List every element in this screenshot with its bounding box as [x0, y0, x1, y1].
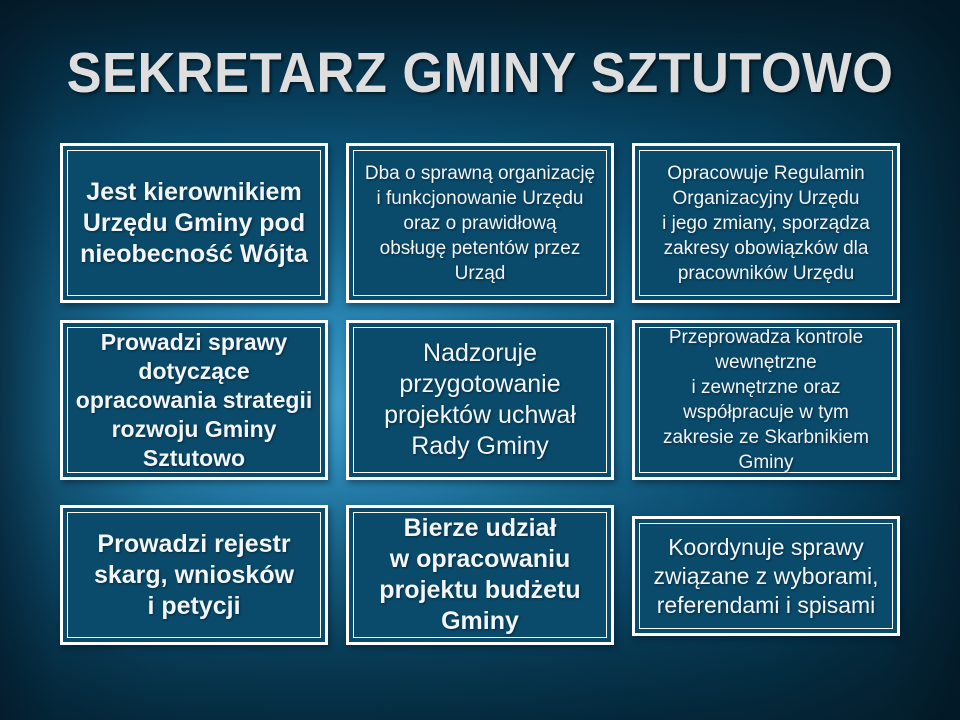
content-box-7[interactable]: Prowadzi rejestr skarg, wniosków i petyc… — [60, 505, 328, 645]
slide-title: SEKRETARZ GMINY SZTUTOWO — [38, 42, 921, 104]
content-box-2[interactable]: Dba o sprawną organizację i funkcjonowan… — [346, 143, 614, 303]
content-box-text-1: Jest kierownikiem Urzędu Gminy pod nieob… — [63, 177, 325, 270]
content-box-text-4: Prowadzi sprawy dotyczące opracowania st… — [63, 328, 325, 473]
slide-canvas: SEKRETARZ GMINY SZTUTOWO Jest kierowniki… — [0, 0, 960, 720]
content-box-text-6: Przeprowadza kontrole wewnętrzne i zewnę… — [635, 325, 897, 475]
content-box-text-9: Koordynuje sprawy związane z wyborami, r… — [635, 533, 897, 620]
content-box-text-5: Nadzoruje przygotowanie projektów uchwał… — [349, 338, 611, 462]
content-box-4[interactable]: Prowadzi sprawy dotyczące opracowania st… — [60, 320, 328, 480]
content-box-text-7: Prowadzi rejestr skarg, wniosków i petyc… — [63, 529, 325, 622]
content-box-text-3: Opracowuje Regulamin Organizacyjny Urzęd… — [635, 161, 897, 286]
content-box-9[interactable]: Koordynuje sprawy związane z wyborami, r… — [632, 516, 900, 636]
content-box-3[interactable]: Opracowuje Regulamin Organizacyjny Urzęd… — [632, 143, 900, 303]
content-box-1[interactable]: Jest kierownikiem Urzędu Gminy pod nieob… — [60, 143, 328, 303]
content-box-5[interactable]: Nadzoruje przygotowanie projektów uchwał… — [346, 320, 614, 480]
content-box-6[interactable]: Przeprowadza kontrole wewnętrzne i zewnę… — [632, 320, 900, 480]
content-box-text-8: Bierze udział w opracowaniu projektu bud… — [349, 513, 611, 637]
content-box-8[interactable]: Bierze udział w opracowaniu projektu bud… — [346, 505, 614, 645]
content-box-text-2: Dba o sprawną organizację i funkcjonowan… — [349, 161, 611, 286]
